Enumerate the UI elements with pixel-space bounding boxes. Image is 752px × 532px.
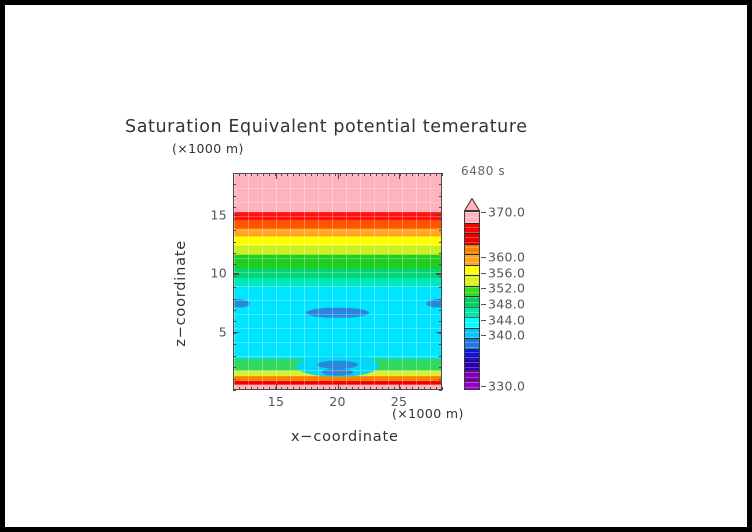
axis-tick-minor: [439, 230, 442, 231]
axis-tick-minor: [233, 242, 236, 243]
axis-tick-minor: [352, 173, 353, 176]
axis-tick-minor: [439, 390, 442, 391]
axis-tick-minor: [257, 387, 258, 390]
colorbar-divider: [465, 275, 479, 276]
axis-tick-minor: [388, 173, 389, 176]
colorbar-divider: [465, 254, 479, 255]
colorbar-tick: [481, 212, 486, 213]
x-tick-label: 20: [329, 394, 346, 409]
axis-tick-minor: [245, 387, 246, 390]
colorbar-band: [465, 317, 479, 328]
axis-tick-minor: [376, 387, 377, 390]
axis-tick-major: [399, 384, 400, 390]
axis-tick-minor: [317, 387, 318, 390]
x-tick-label: 15: [268, 394, 285, 409]
axis-tick-minor: [287, 387, 288, 390]
axis-tick-minor: [370, 173, 371, 176]
colorbar-band: [465, 223, 479, 234]
axis-tick-minor: [388, 387, 389, 390]
colorbar-tick: [481, 335, 486, 336]
colorbar-band: [465, 265, 479, 276]
axis-tick-major: [233, 273, 239, 274]
colorbar-band: [465, 212, 479, 223]
axis-tick-minor: [382, 173, 383, 176]
colorbar-band: [465, 359, 479, 370]
colorbar-divider: [465, 233, 479, 234]
colorbar-tick: [481, 320, 486, 321]
colorbar[interactable]: [464, 198, 480, 390]
axis-tick-minor: [323, 173, 324, 176]
axis-tick-minor: [439, 242, 442, 243]
axis-tick-minor: [436, 173, 437, 176]
axis-tick-major: [276, 384, 277, 390]
axis-tick-minor: [233, 287, 236, 288]
axis-tick-minor: [346, 173, 347, 176]
colorbar-band: [465, 296, 479, 307]
axis-tick-minor: [439, 219, 442, 220]
axis-tick-minor: [311, 173, 312, 176]
title-units-label: (×1000 m): [172, 141, 244, 156]
axis-tick-minor: [233, 184, 236, 185]
axis-tick-minor: [430, 387, 431, 390]
axis-tick-minor: [439, 344, 442, 345]
axis-tick-major: [338, 173, 339, 179]
axis-tick-minor: [323, 387, 324, 390]
colorbar-divider: [465, 223, 479, 224]
colorbar-tick: [481, 288, 486, 289]
axis-tick-minor: [424, 387, 425, 390]
colorbar-divider: [465, 244, 479, 245]
axis-tick-minor: [233, 276, 236, 277]
axis-tick-minor: [430, 173, 431, 176]
colorbar-tick-label: 340.0: [488, 328, 525, 343]
y-tick-label: 5: [207, 324, 227, 339]
contour-field: [234, 174, 441, 389]
axis-tick-minor: [439, 299, 442, 300]
axis-tick-minor: [418, 387, 419, 390]
colorbar-band: [465, 286, 479, 297]
axis-tick-minor: [439, 379, 442, 380]
axis-tick-minor: [439, 184, 442, 185]
axis-tick-minor: [233, 390, 236, 391]
axis-tick-minor: [394, 387, 395, 390]
axis-tick-minor: [358, 387, 359, 390]
axis-tick-minor: [382, 387, 383, 390]
colorbar-divider: [465, 265, 479, 266]
axis-tick-minor: [305, 387, 306, 390]
colorbar-tick-label: 370.0: [488, 205, 525, 220]
colorbar-tick: [481, 386, 486, 387]
axis-tick-minor: [233, 230, 236, 231]
axis-tick-minor: [346, 387, 347, 390]
axis-tick-minor: [340, 387, 341, 390]
axis-tick-minor: [239, 173, 240, 176]
axis-tick-minor: [439, 253, 442, 254]
axis-tick-minor: [233, 196, 236, 197]
plot-area[interactable]: [233, 173, 442, 390]
colorbar-band: [465, 254, 479, 265]
colorbar-divider: [465, 370, 479, 371]
colorbar-divider: [465, 317, 479, 318]
colorbar-divider: [465, 359, 479, 360]
axis-tick-minor: [293, 173, 294, 176]
colorbar-arrow-icon: [464, 198, 480, 211]
axis-tick-minor: [424, 173, 425, 176]
colorbar-tick-label: 330.0: [488, 379, 525, 394]
colorbar-tick-label: 352.0: [488, 281, 525, 296]
colorbar-divider: [465, 328, 479, 329]
axis-tick-minor: [269, 173, 270, 176]
axis-tick-minor: [233, 367, 236, 368]
timestamp-label: 6480 s: [461, 164, 505, 178]
colorbar-band: [465, 275, 479, 286]
colorbar-tick: [481, 273, 486, 274]
axis-tick-minor: [233, 321, 236, 322]
axis-tick-minor: [293, 387, 294, 390]
axis-tick-minor: [439, 367, 442, 368]
colorbar-band: [465, 338, 479, 349]
axis-tick-minor: [287, 173, 288, 176]
colorbar-band: [465, 349, 479, 360]
colorbar-band: [465, 233, 479, 244]
axis-tick-minor: [263, 173, 264, 176]
colorbar-divider: [465, 307, 479, 308]
axis-tick-minor: [358, 173, 359, 176]
axis-tick-minor: [412, 387, 413, 390]
axis-tick-minor: [335, 173, 336, 176]
axis-tick-minor: [239, 387, 240, 390]
axis-tick-major: [436, 273, 442, 274]
axis-tick-minor: [439, 287, 442, 288]
axis-tick-minor: [442, 387, 443, 390]
axis-tick-minor: [233, 253, 236, 254]
x-axis-title: x−coordinate: [291, 429, 399, 445]
axis-tick-major: [233, 332, 239, 333]
axis-tick-minor: [442, 173, 443, 176]
axis-tick-minor: [269, 387, 270, 390]
axis-tick-major: [399, 173, 400, 179]
axis-tick-minor: [299, 387, 300, 390]
axis-tick-minor: [317, 173, 318, 176]
axis-tick-major: [338, 384, 339, 390]
axis-tick-minor: [394, 173, 395, 176]
x-axis-units-label: (×1000 m): [392, 406, 464, 421]
axis-tick-minor: [370, 387, 371, 390]
page-title: Saturation Equivalent potential temeratu…: [125, 117, 528, 137]
axis-tick-minor: [439, 276, 442, 277]
axis-tick-minor: [299, 173, 300, 176]
colorbar-tick-label: 344.0: [488, 313, 525, 328]
axis-tick-minor: [439, 173, 442, 174]
axis-tick-minor: [439, 321, 442, 322]
axis-tick-minor: [251, 387, 252, 390]
axis-tick-minor: [364, 387, 365, 390]
colorbar-divider: [465, 380, 479, 381]
colorbar-tick: [481, 304, 486, 305]
axis-tick-minor: [418, 173, 419, 176]
y-tick-label: 10: [207, 266, 227, 281]
colorbar-divider: [465, 296, 479, 297]
axis-tick-minor: [233, 310, 236, 311]
colorbar-divider: [465, 338, 479, 339]
axis-tick-minor: [439, 356, 442, 357]
colorbar-band: [465, 307, 479, 318]
axis-tick-minor: [281, 387, 282, 390]
axis-tick-minor: [364, 173, 365, 176]
axis-tick-minor: [329, 387, 330, 390]
axis-tick-minor: [329, 173, 330, 176]
axis-tick-minor: [233, 219, 236, 220]
axis-tick-minor: [233, 356, 236, 357]
axis-tick-minor: [352, 387, 353, 390]
axis-tick-minor: [406, 387, 407, 390]
axis-tick-minor: [245, 173, 246, 176]
colorbar-band: [465, 380, 479, 390]
axis-tick-minor: [281, 173, 282, 176]
axis-tick-minor: [335, 387, 336, 390]
colorbar-tick-label: 356.0: [488, 266, 525, 281]
colorbar-tick-label: 360.0: [488, 250, 525, 265]
axis-tick-minor: [233, 264, 236, 265]
axis-tick-minor: [439, 264, 442, 265]
axis-tick-minor: [340, 173, 341, 176]
axis-tick-minor: [233, 344, 236, 345]
axis-tick-major: [276, 173, 277, 179]
axis-tick-minor: [436, 387, 437, 390]
axis-tick-minor: [439, 310, 442, 311]
axis-tick-minor: [263, 387, 264, 390]
colorbar-tick-label: 348.0: [488, 297, 525, 312]
y-tick-label: 15: [207, 208, 227, 223]
axis-tick-major: [233, 215, 239, 216]
axis-tick-minor: [439, 207, 442, 208]
axis-tick-major: [436, 215, 442, 216]
colorbar-band: [465, 244, 479, 255]
axis-tick-minor: [439, 196, 442, 197]
axis-tick-minor: [251, 173, 252, 176]
colorbar-divider: [465, 349, 479, 350]
axis-tick-minor: [233, 207, 236, 208]
axis-tick-major: [436, 332, 442, 333]
axis-tick-minor: [233, 299, 236, 300]
colorbar-band: [465, 328, 479, 339]
axis-tick-minor: [257, 173, 258, 176]
axis-tick-minor: [412, 173, 413, 176]
colorbar-body: [464, 211, 480, 390]
axis-tick-minor: [233, 173, 236, 174]
axis-tick-minor: [406, 173, 407, 176]
figure-canvas: Saturation Equivalent potential temeratu…: [5, 5, 747, 527]
y-axis-title: z−coordinate: [173, 240, 189, 347]
colorbar-tick: [481, 257, 486, 258]
colorbar-divider: [465, 286, 479, 287]
colorbar-band: [465, 370, 479, 381]
axis-tick-minor: [311, 387, 312, 390]
axis-tick-minor: [376, 173, 377, 176]
axis-tick-minor: [305, 173, 306, 176]
axis-tick-minor: [233, 379, 236, 380]
